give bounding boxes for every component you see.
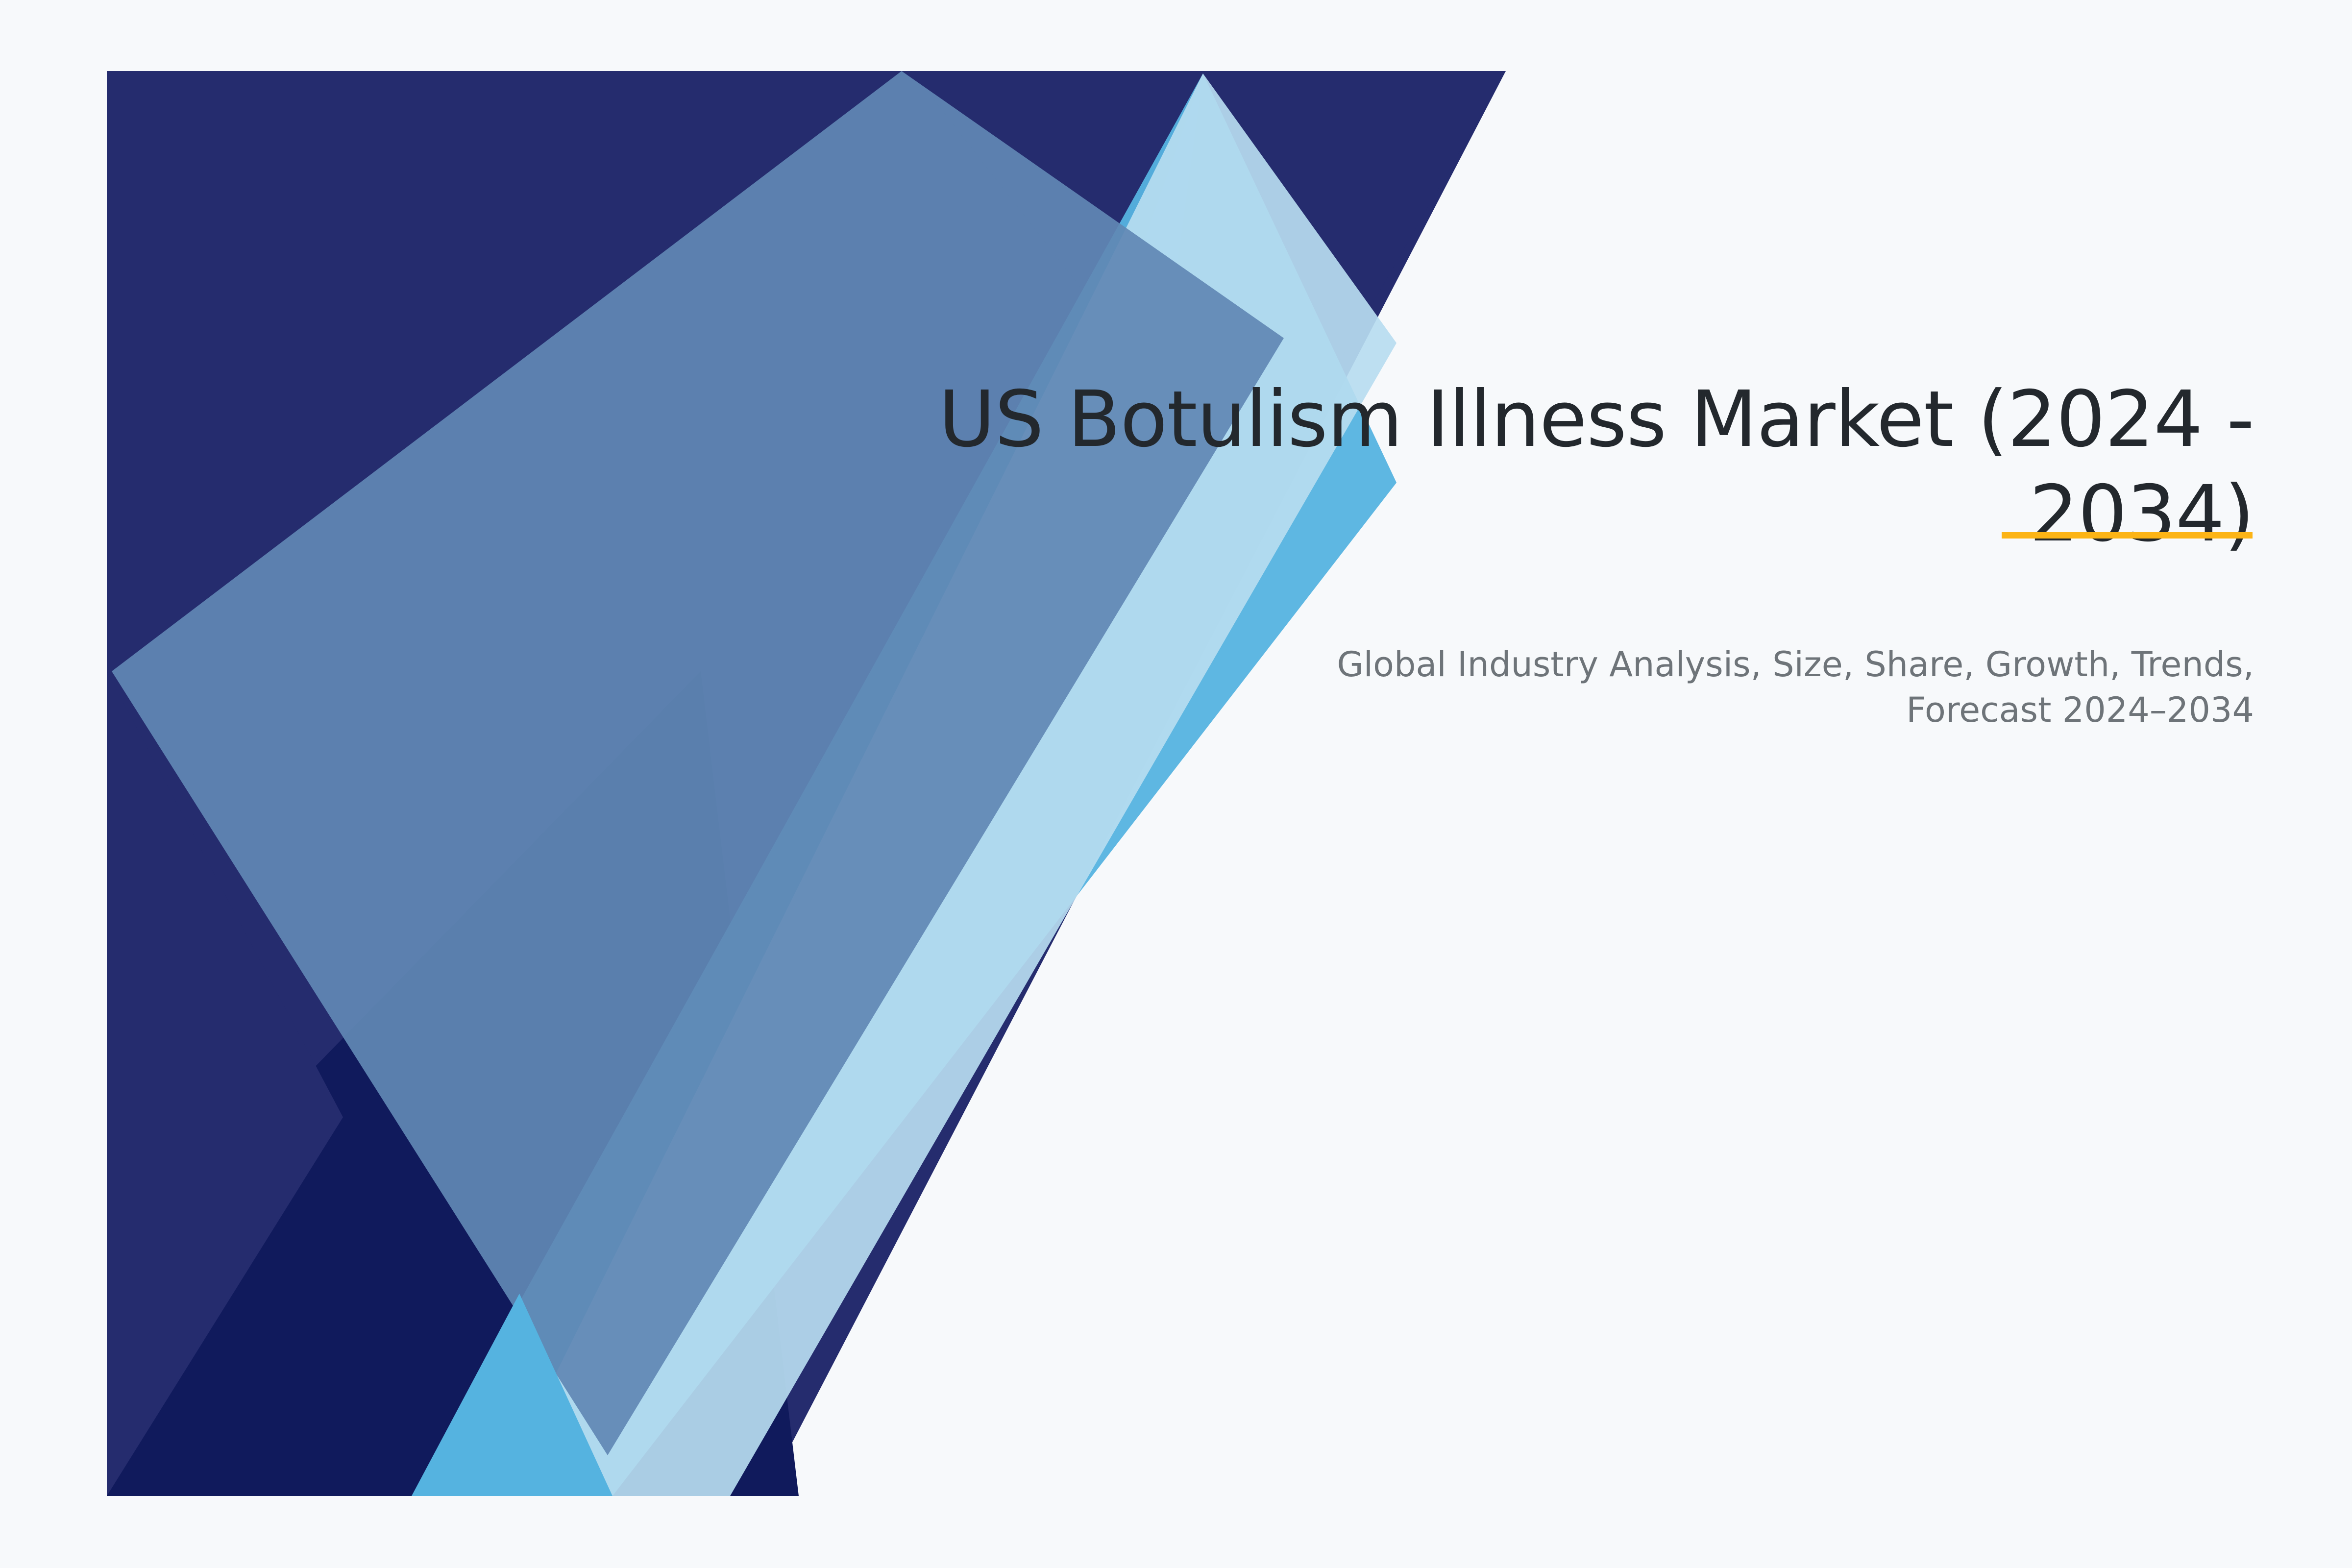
title-accent-rule: [2002, 532, 2253, 539]
shape-sky-foot-left: [412, 1294, 612, 1496]
shape-cyan-field: [107, 71, 1506, 1496]
shape-slate-overlay: [112, 71, 1284, 1455]
shape-mid-blue-band: [412, 73, 1396, 1496]
page-subtitle: Global Industry Analysis, Size, Share, G…: [1274, 642, 2254, 733]
shape-deep-navy-v: [107, 671, 799, 1496]
shape-navy-sliver: [107, 671, 343, 1496]
slide-canvas: US Botulism Illness Market (2024 - 2034)…: [0, 0, 2352, 1568]
shape-pale-blue-quad: [495, 73, 1396, 1496]
shape-navy-wedge: [107, 71, 1506, 1496]
abstract-geometric-cover-art: [0, 0, 2352, 1568]
